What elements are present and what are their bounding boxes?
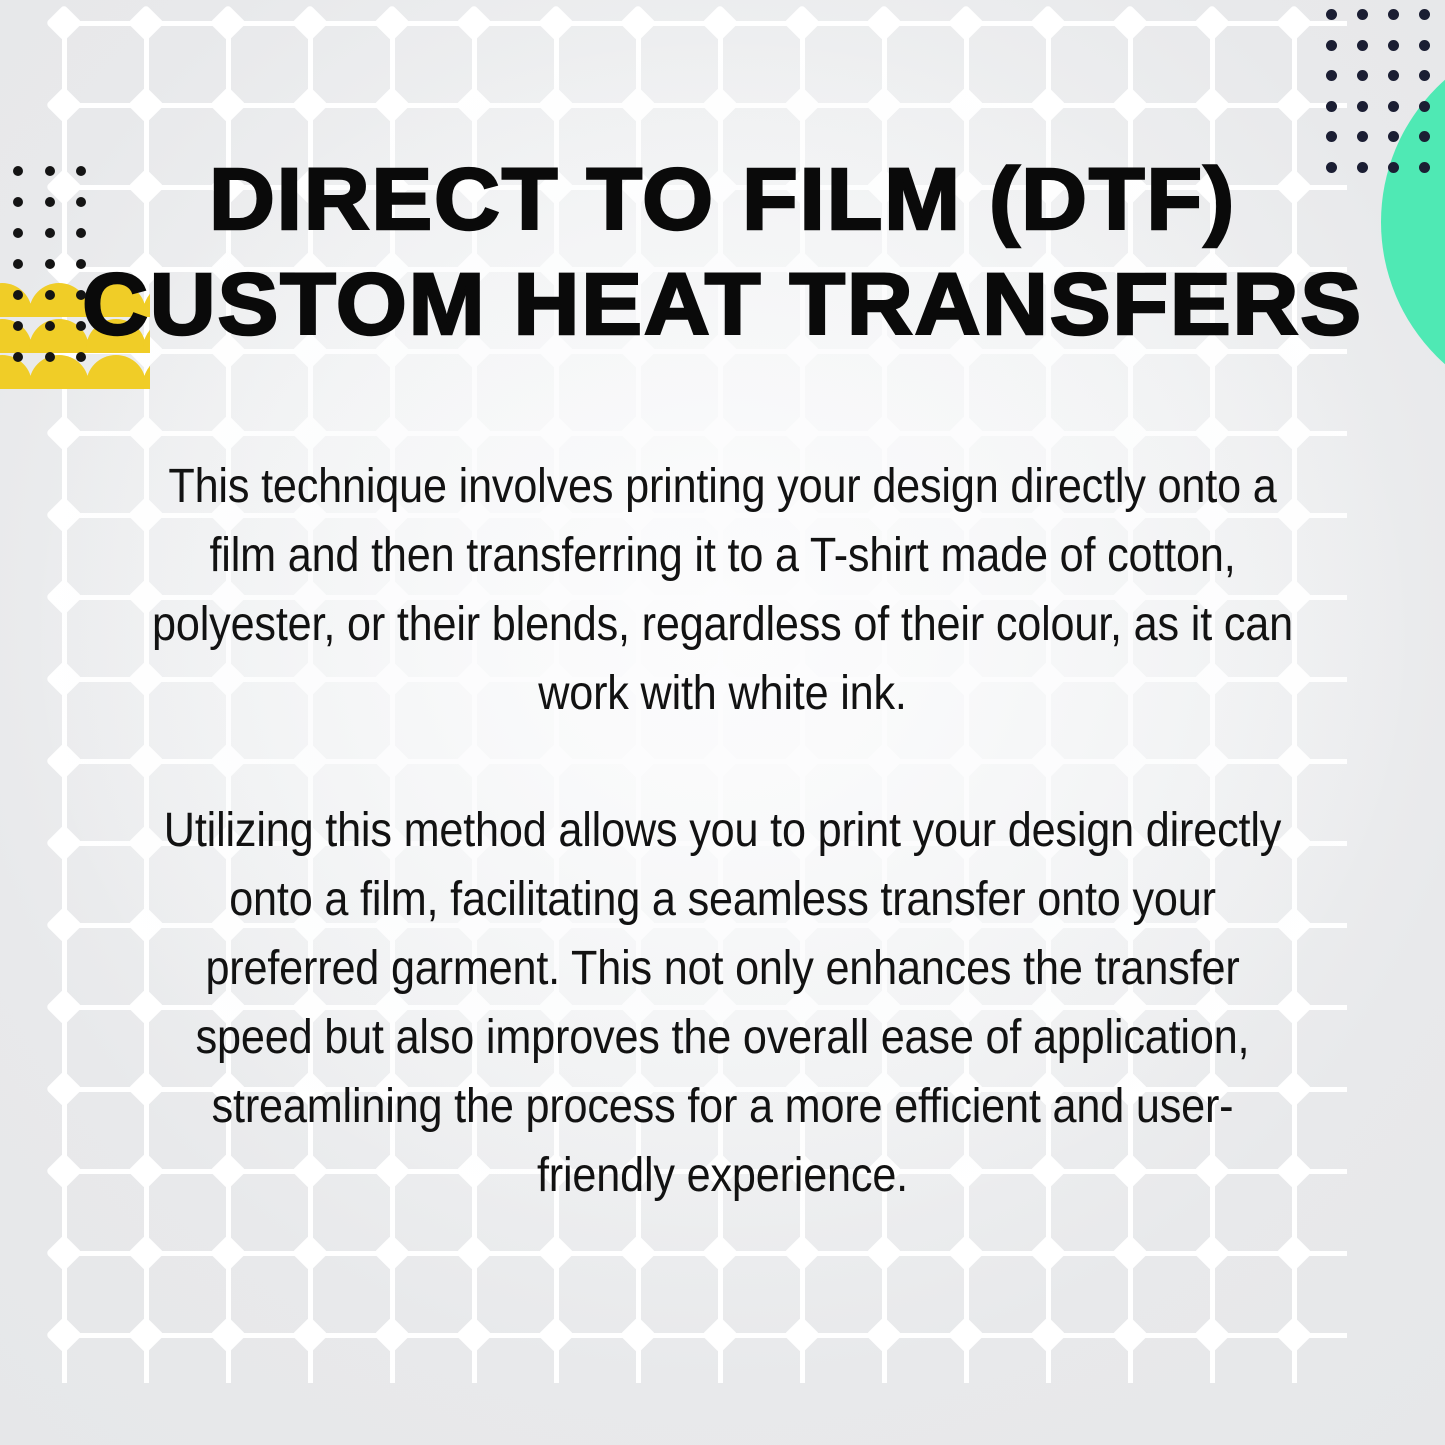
black-dot <box>76 166 86 176</box>
black-dot <box>76 321 86 331</box>
black-dot <box>13 228 23 238</box>
black-dot <box>45 166 55 176</box>
page-title-line-2: CUSTOM HEAT TRANSFERS <box>0 251 1445 356</box>
black-dot <box>13 197 23 207</box>
body-copy: This technique involves printing your de… <box>80 452 1365 1210</box>
black-dot <box>13 321 23 331</box>
black-dot <box>13 352 23 362</box>
black-dot <box>45 290 55 300</box>
black-dot <box>76 228 86 238</box>
paragraph-2: Utilizing this method allows you to prin… <box>144 796 1301 1210</box>
black-dot <box>76 259 86 269</box>
black-dot <box>13 166 23 176</box>
black-dot <box>45 197 55 207</box>
poster-content: DIRECT TO FILM (DTF) CUSTOM HEAT TRANSFE… <box>0 0 1445 1445</box>
page-title: DIRECT TO FILM (DTF) CUSTOM HEAT TRANSFE… <box>0 146 1445 357</box>
black-dot <box>45 228 55 238</box>
black-dot <box>76 197 86 207</box>
black-dot <box>13 259 23 269</box>
black-dot <box>76 352 86 362</box>
black-dot <box>45 259 55 269</box>
poster-canvas: DIRECT TO FILM (DTF) CUSTOM HEAT TRANSFE… <box>0 0 1445 1445</box>
paragraph-1: This technique involves printing your de… <box>144 452 1301 728</box>
page-title-line-1: DIRECT TO FILM (DTF) <box>0 146 1445 251</box>
black-dot <box>45 352 55 362</box>
black-dot <box>13 290 23 300</box>
black-dot <box>76 290 86 300</box>
black-dot <box>45 321 55 331</box>
